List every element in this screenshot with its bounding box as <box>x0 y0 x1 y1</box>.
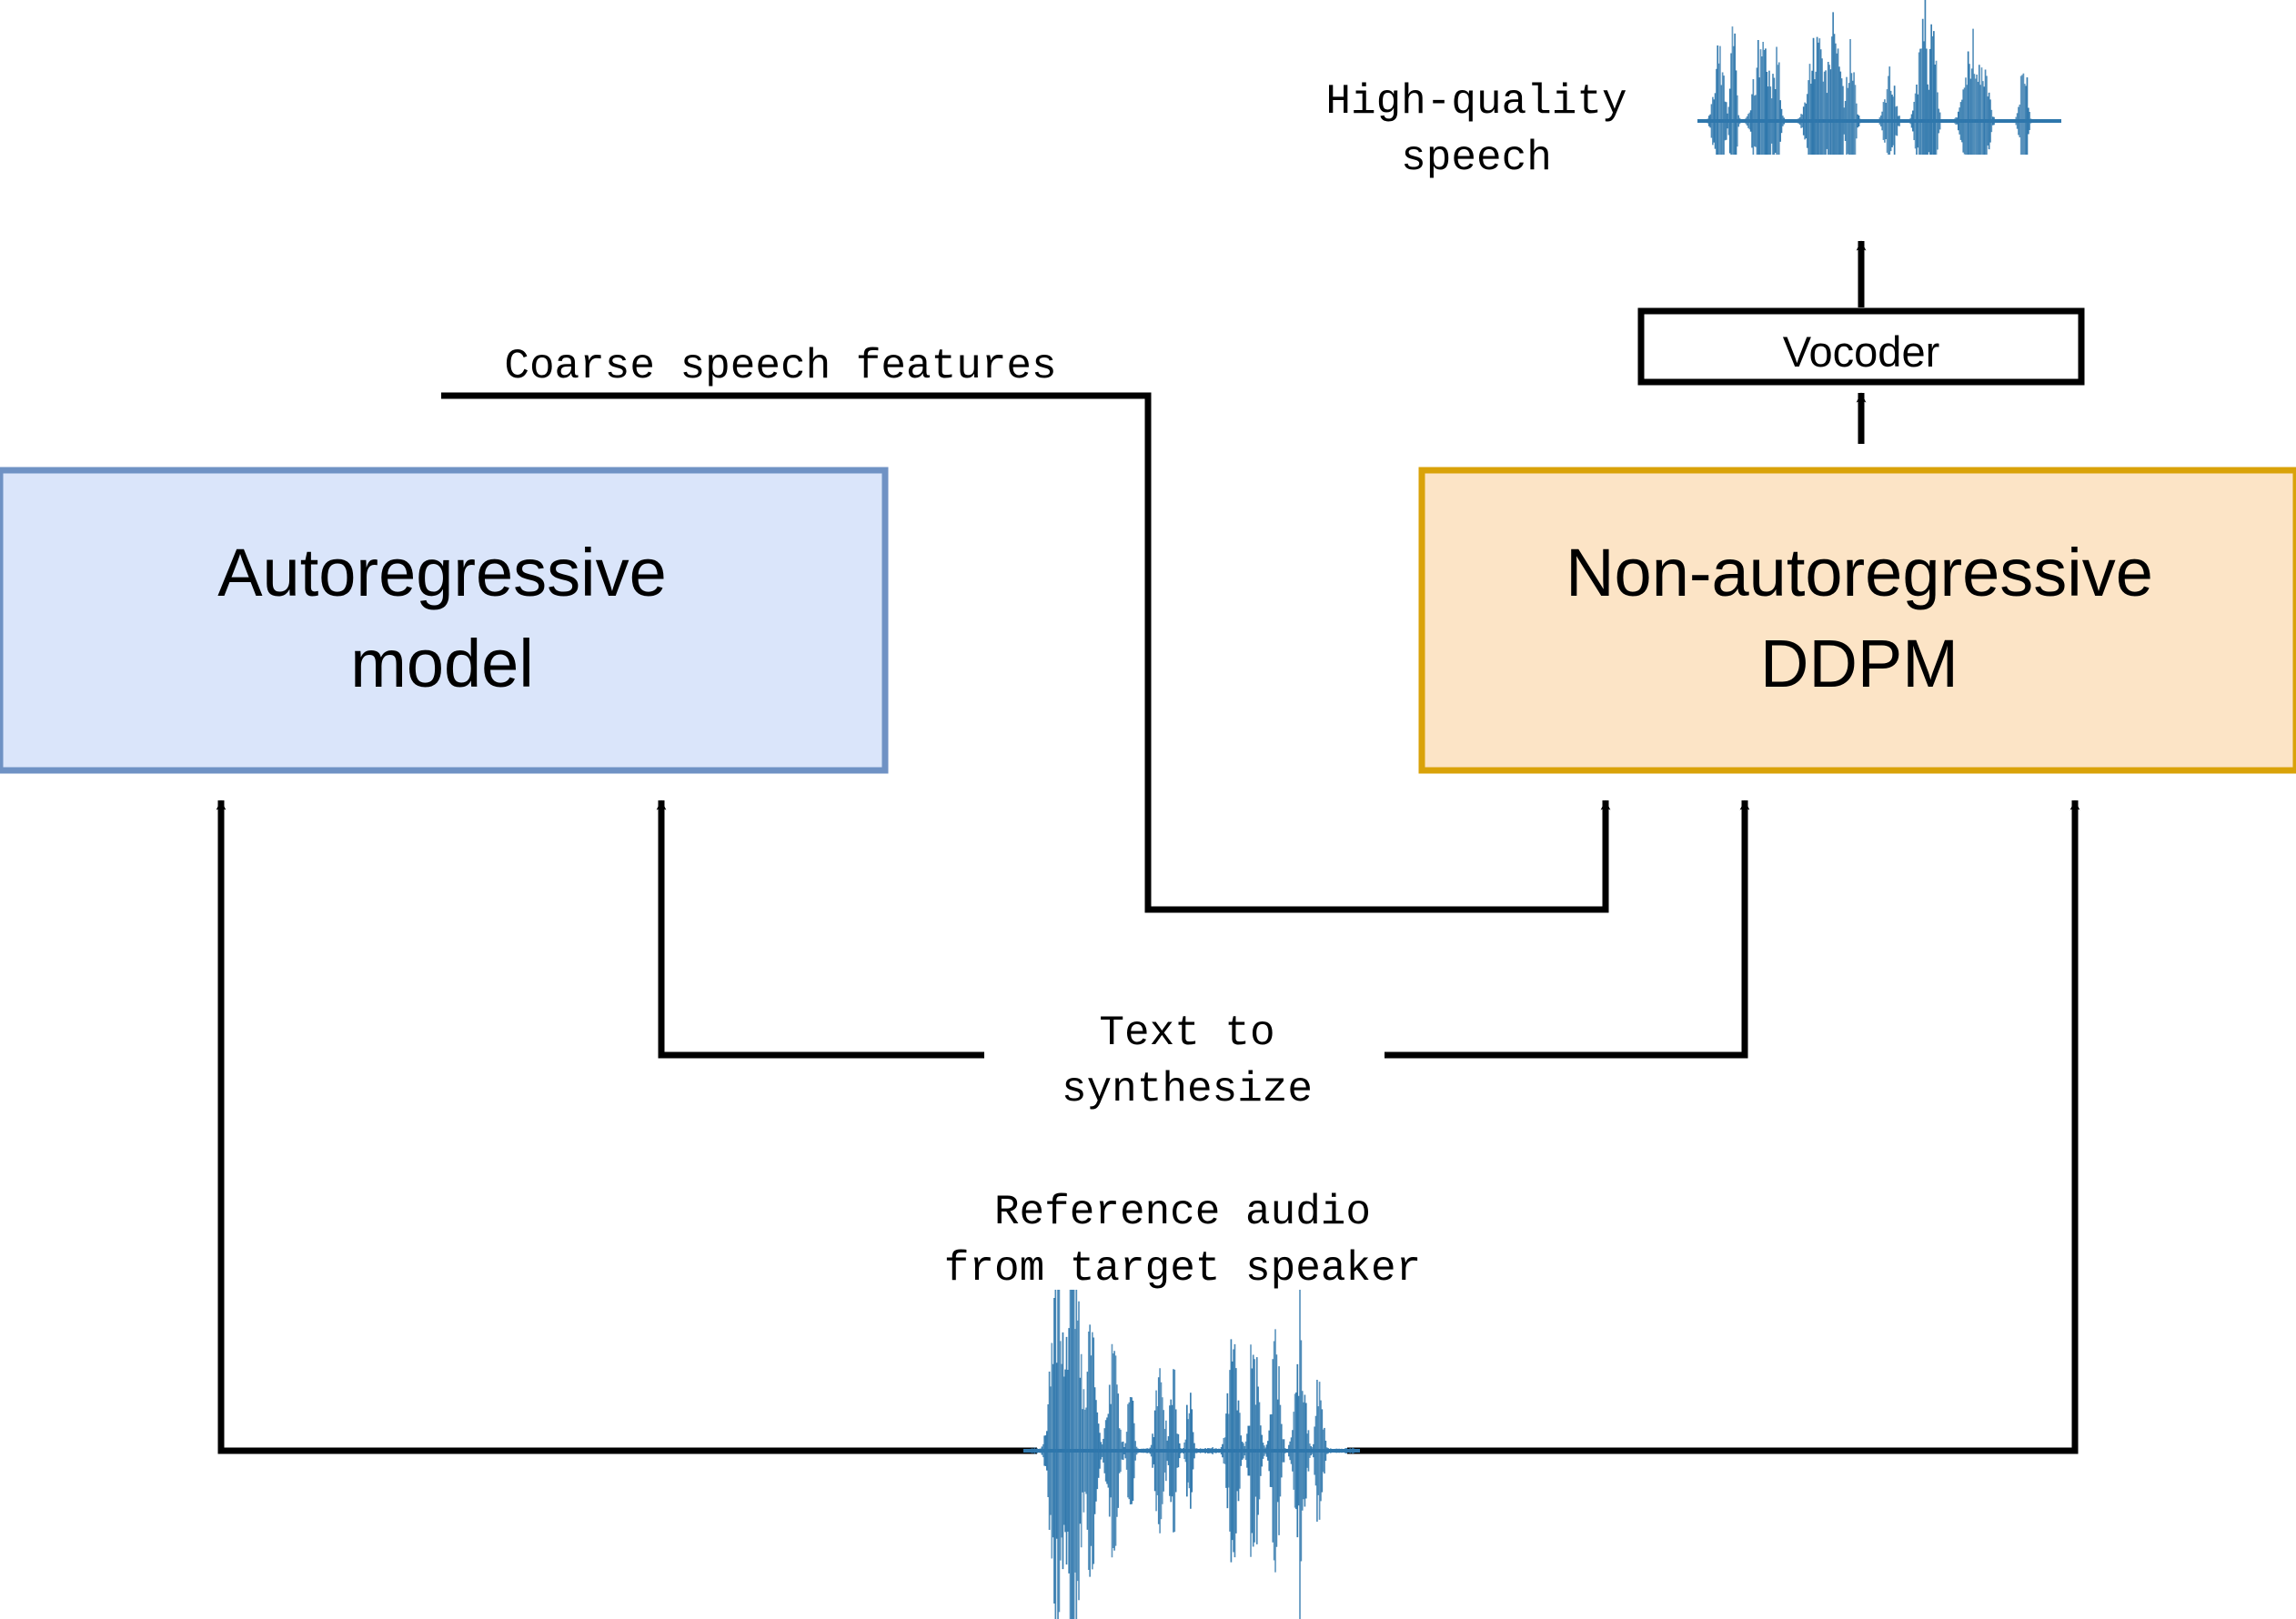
edge-text-to-synthesize-right <box>1385 800 1745 1055</box>
label-coarse-speech-features: Coarse speech features <box>504 343 1056 390</box>
text-to-synthesize-line2: synthesize <box>1062 1066 1313 1113</box>
high-quality-speech-line2: speech <box>1401 135 1552 182</box>
node-autoregressive-model[interactable]: Autoregressive model <box>0 470 885 770</box>
node-vocoder[interactable]: Vocoder <box>1641 311 2081 382</box>
coarse-speech-features-text: Coarse speech features <box>504 343 1056 390</box>
edge-text-to-synthesize-left <box>661 800 984 1055</box>
edge-reference-audio-right <box>1347 800 2075 1451</box>
pipeline-diagram: Autoregressive model Non-autoregressive … <box>0 0 2296 1619</box>
reference-audio-line1: Reference audio <box>994 1189 1371 1236</box>
node-non-autoregressive-ddpm[interactable]: Non-autoregressive DDPM <box>1422 470 2296 770</box>
label-text-to-synthesize: Text to synthesize <box>1062 1010 1313 1113</box>
high-quality-speech-line1: High-quality <box>1325 78 1626 126</box>
output-speech-waveform <box>1697 0 2061 247</box>
reference-audio-line2: from target speaker <box>944 1245 1422 1292</box>
text-to-synthesize-line1: Text to <box>1099 1010 1274 1057</box>
label-high-quality-speech: High-quality speech <box>1325 78 1626 182</box>
diagram-canvas: Autoregressive model Non-autoregressive … <box>0 0 2296 1619</box>
autoregressive-model-label-line2: model <box>350 626 534 701</box>
non-autoregressive-ddpm-label-line2: DDPM <box>1760 626 1959 701</box>
label-reference-audio: Reference audio from target speaker <box>944 1189 1422 1292</box>
autoregressive-model-label-line1: Autoregressive <box>217 535 667 610</box>
non-autoregressive-ddpm-label-line1: Non-autoregressive <box>1566 535 2153 610</box>
reference-audio-waveform <box>1023 1262 1360 1619</box>
edge-reference-audio-left <box>221 800 1037 1451</box>
vocoder-label: Vocoder <box>1783 327 1939 376</box>
